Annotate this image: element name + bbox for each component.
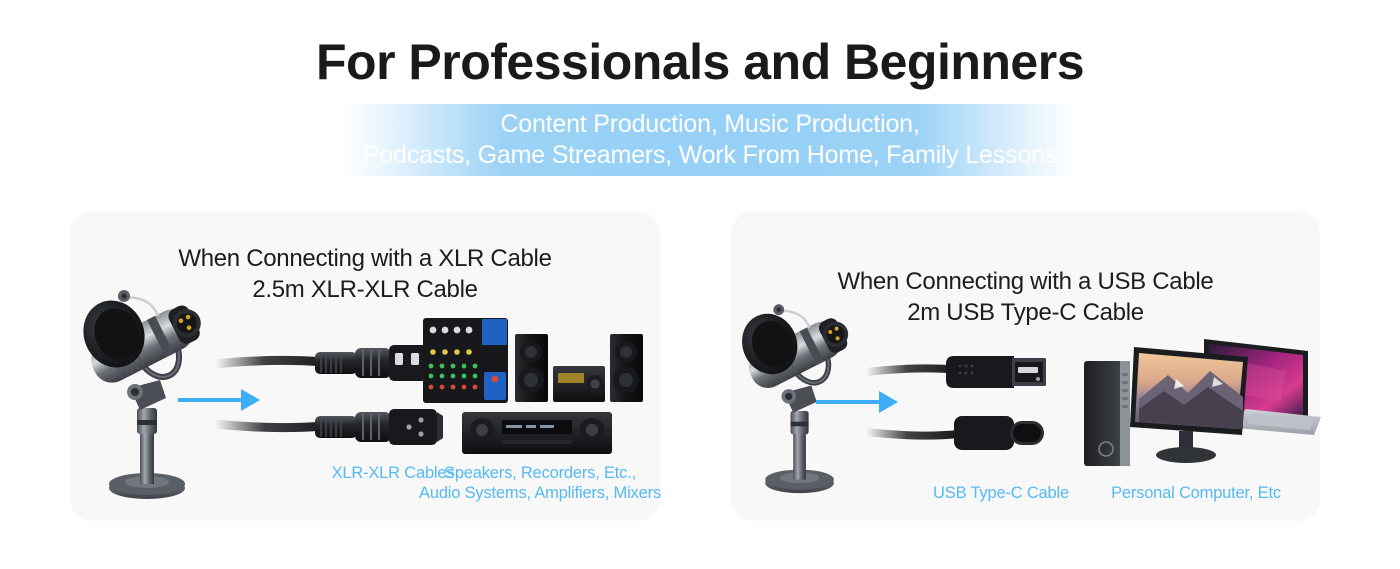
subtitle-banner: Content Production, Music Production, Po… [340, 104, 1080, 176]
panel-xlr-heading-line1: When Connecting with a XLR Cable [178, 245, 551, 272]
usb-cable-pair-icon [866, 346, 1091, 456]
infographic-page: For Professionals and Beginners Content … [0, 0, 1400, 569]
caption-usb-cable-text: USB Type-C Cable [933, 484, 1069, 502]
computer-equipment-icon [1076, 331, 1321, 471]
panel-xlr-connection: When Connecting with a XLR Cable 2.5m XL… [70, 211, 660, 521]
caption-computer-devices: Personal Computer, Etc [1071, 483, 1321, 503]
caption-audio-devices: Speakers, Recorders, Etc., Audio Systems… [400, 463, 680, 504]
banner-line-2: Podcasts, Game Streamers, Work From Home… [363, 140, 1057, 172]
caption-computer-devices-text: Personal Computer, Etc [1111, 484, 1281, 502]
panel-usb-connection: When Connecting with a USB Cable 2m USB … [731, 211, 1320, 521]
page-title: For Professionals and Beginners [0, 36, 1400, 89]
caption-audio-devices-line1: Speakers, Recorders, Etc., [444, 464, 636, 482]
caption-audio-devices-line2: Audio Systems, Amplifiers, Mixers [419, 484, 661, 502]
banner-line-1: Content Production, Music Production, [500, 109, 919, 141]
panel-usb-heading-line1: When Connecting with a USB Cable [838, 268, 1214, 295]
audio-equipment-icon [420, 316, 660, 461]
